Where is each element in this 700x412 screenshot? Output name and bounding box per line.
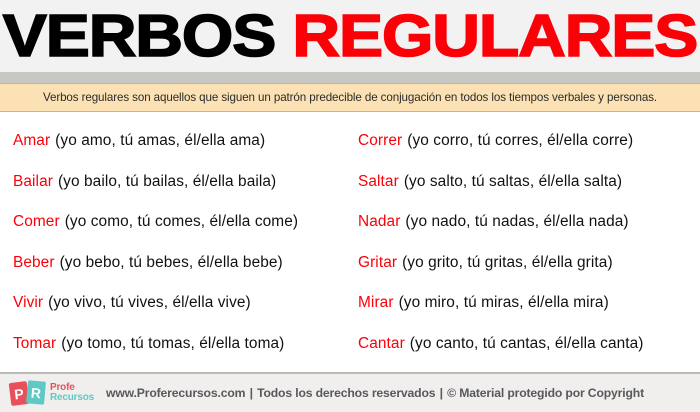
logo-tile-r: R	[26, 380, 46, 404]
verb-name: Bailar	[13, 173, 53, 191]
verb-conjugation: (yo tomo, tú tomas, él/ella toma)	[61, 335, 284, 353]
list-item: Bailar (yo bailo, tú bailas, él/ella bai…	[13, 162, 350, 203]
verb-name: Tomar	[13, 335, 56, 353]
verb-conjugation: (yo amo, tú amas, él/ella ama)	[55, 132, 265, 150]
verb-conjugation: (yo salto, tú saltas, él/ella salta)	[404, 173, 622, 191]
footer-website[interactable]: www.Proferecursos.com	[106, 386, 245, 400]
list-item: Tomar (yo tomo, tú tomas, él/ella toma)	[13, 324, 350, 365]
logo-word-recursos: Recursos	[50, 393, 94, 403]
title-band: VERBOS REGULARES	[0, 0, 700, 72]
verb-name: Beber	[13, 254, 55, 272]
verb-conjugation: (yo vivo, tú vives, él/ella vive)	[48, 294, 251, 312]
verb-conjugation: (yo grito, tú gritas, él/ella grita)	[402, 254, 613, 272]
infographic-page: VERBOS REGULARES Verbos regulares son aq…	[0, 0, 700, 412]
list-item: Saltar (yo salto, tú saltas, él/ella sal…	[358, 162, 700, 203]
title-word-verbos: VERBOS	[3, 3, 275, 69]
header-separator	[0, 72, 700, 83]
footer-copyright: © Material protegido por Copyright	[447, 386, 644, 400]
verb-name: Amar	[13, 132, 50, 150]
verb-conjugation: (yo nado, tú nadas, él/ella nada)	[405, 213, 628, 231]
list-item: Vivir (yo vivo, tú vives, él/ella vive)	[13, 283, 350, 324]
verb-conjugation: (yo bailo, tú bailas, él/ella baila)	[58, 173, 276, 191]
subtitle-text: Verbos regulares son aquellos que siguen…	[43, 91, 657, 104]
verb-name: Gritar	[358, 254, 397, 272]
verb-name: Saltar	[358, 173, 399, 191]
list-item: Correr (yo corro, tú corres, él/ella cor…	[358, 121, 700, 162]
verb-name: Cantar	[358, 335, 405, 353]
footer-separator-2: |	[439, 386, 444, 400]
verb-lists: Amar (yo amo, tú amas, él/ella ama) Bail…	[0, 112, 700, 372]
proferecursos-logo[interactable]: P R Profe Recursos	[9, 378, 97, 408]
title-word-regulares: REGULARES	[292, 3, 697, 69]
verb-conjugation: (yo corro, tú corres, él/ella corre)	[407, 132, 633, 150]
logo-tiles-icon: P R	[9, 379, 49, 407]
verb-conjugation: (yo como, tú comes, él/ella come)	[65, 213, 298, 231]
page-title: VERBOS REGULARES	[3, 5, 697, 67]
footer-text: www.Proferecursos.com | Todos los derech…	[106, 386, 644, 400]
verb-name: Correr	[358, 132, 402, 150]
verb-conjugation: (yo canto, tú cantas, él/ella canta)	[410, 335, 644, 353]
list-item: Mirar (yo miro, tú miras, él/ella mira)	[358, 283, 700, 324]
list-item: Amar (yo amo, tú amas, él/ella ama)	[13, 121, 350, 162]
verb-name: Vivir	[13, 294, 43, 312]
list-item: Nadar (yo nado, tú nadas, él/ella nada)	[358, 202, 700, 243]
verb-conjugation: (yo bebo, tú bebes, él/ella bebe)	[60, 254, 283, 272]
verb-column-left: Amar (yo amo, tú amas, él/ella ama) Bail…	[0, 121, 350, 372]
list-item: Comer (yo como, tú comes, él/ella come)	[13, 202, 350, 243]
footer-separator-1: |	[249, 386, 254, 400]
footer-bar: P R Profe Recursos www.Proferecursos.com…	[0, 372, 700, 412]
list-item: Cantar (yo canto, tú cantas, él/ella can…	[358, 324, 700, 365]
logo-wordmark: Profe Recursos	[50, 383, 94, 404]
subtitle-band: Verbos regulares son aquellos que siguen…	[0, 83, 700, 112]
verb-name: Comer	[13, 213, 60, 231]
verb-conjugation: (yo miro, tú miras, él/ella mira)	[399, 294, 609, 312]
list-item: Beber (yo bebo, tú bebes, él/ella bebe)	[13, 243, 350, 284]
logo-word-profe: Profe	[50, 383, 94, 393]
verb-name: Mirar	[358, 294, 394, 312]
verb-name: Nadar	[358, 213, 400, 231]
verb-column-right: Correr (yo corro, tú corres, él/ella cor…	[350, 121, 700, 372]
list-item: Gritar (yo grito, tú gritas, él/ella gri…	[358, 243, 700, 284]
footer-rights: Todos los derechos reservados	[257, 386, 435, 400]
